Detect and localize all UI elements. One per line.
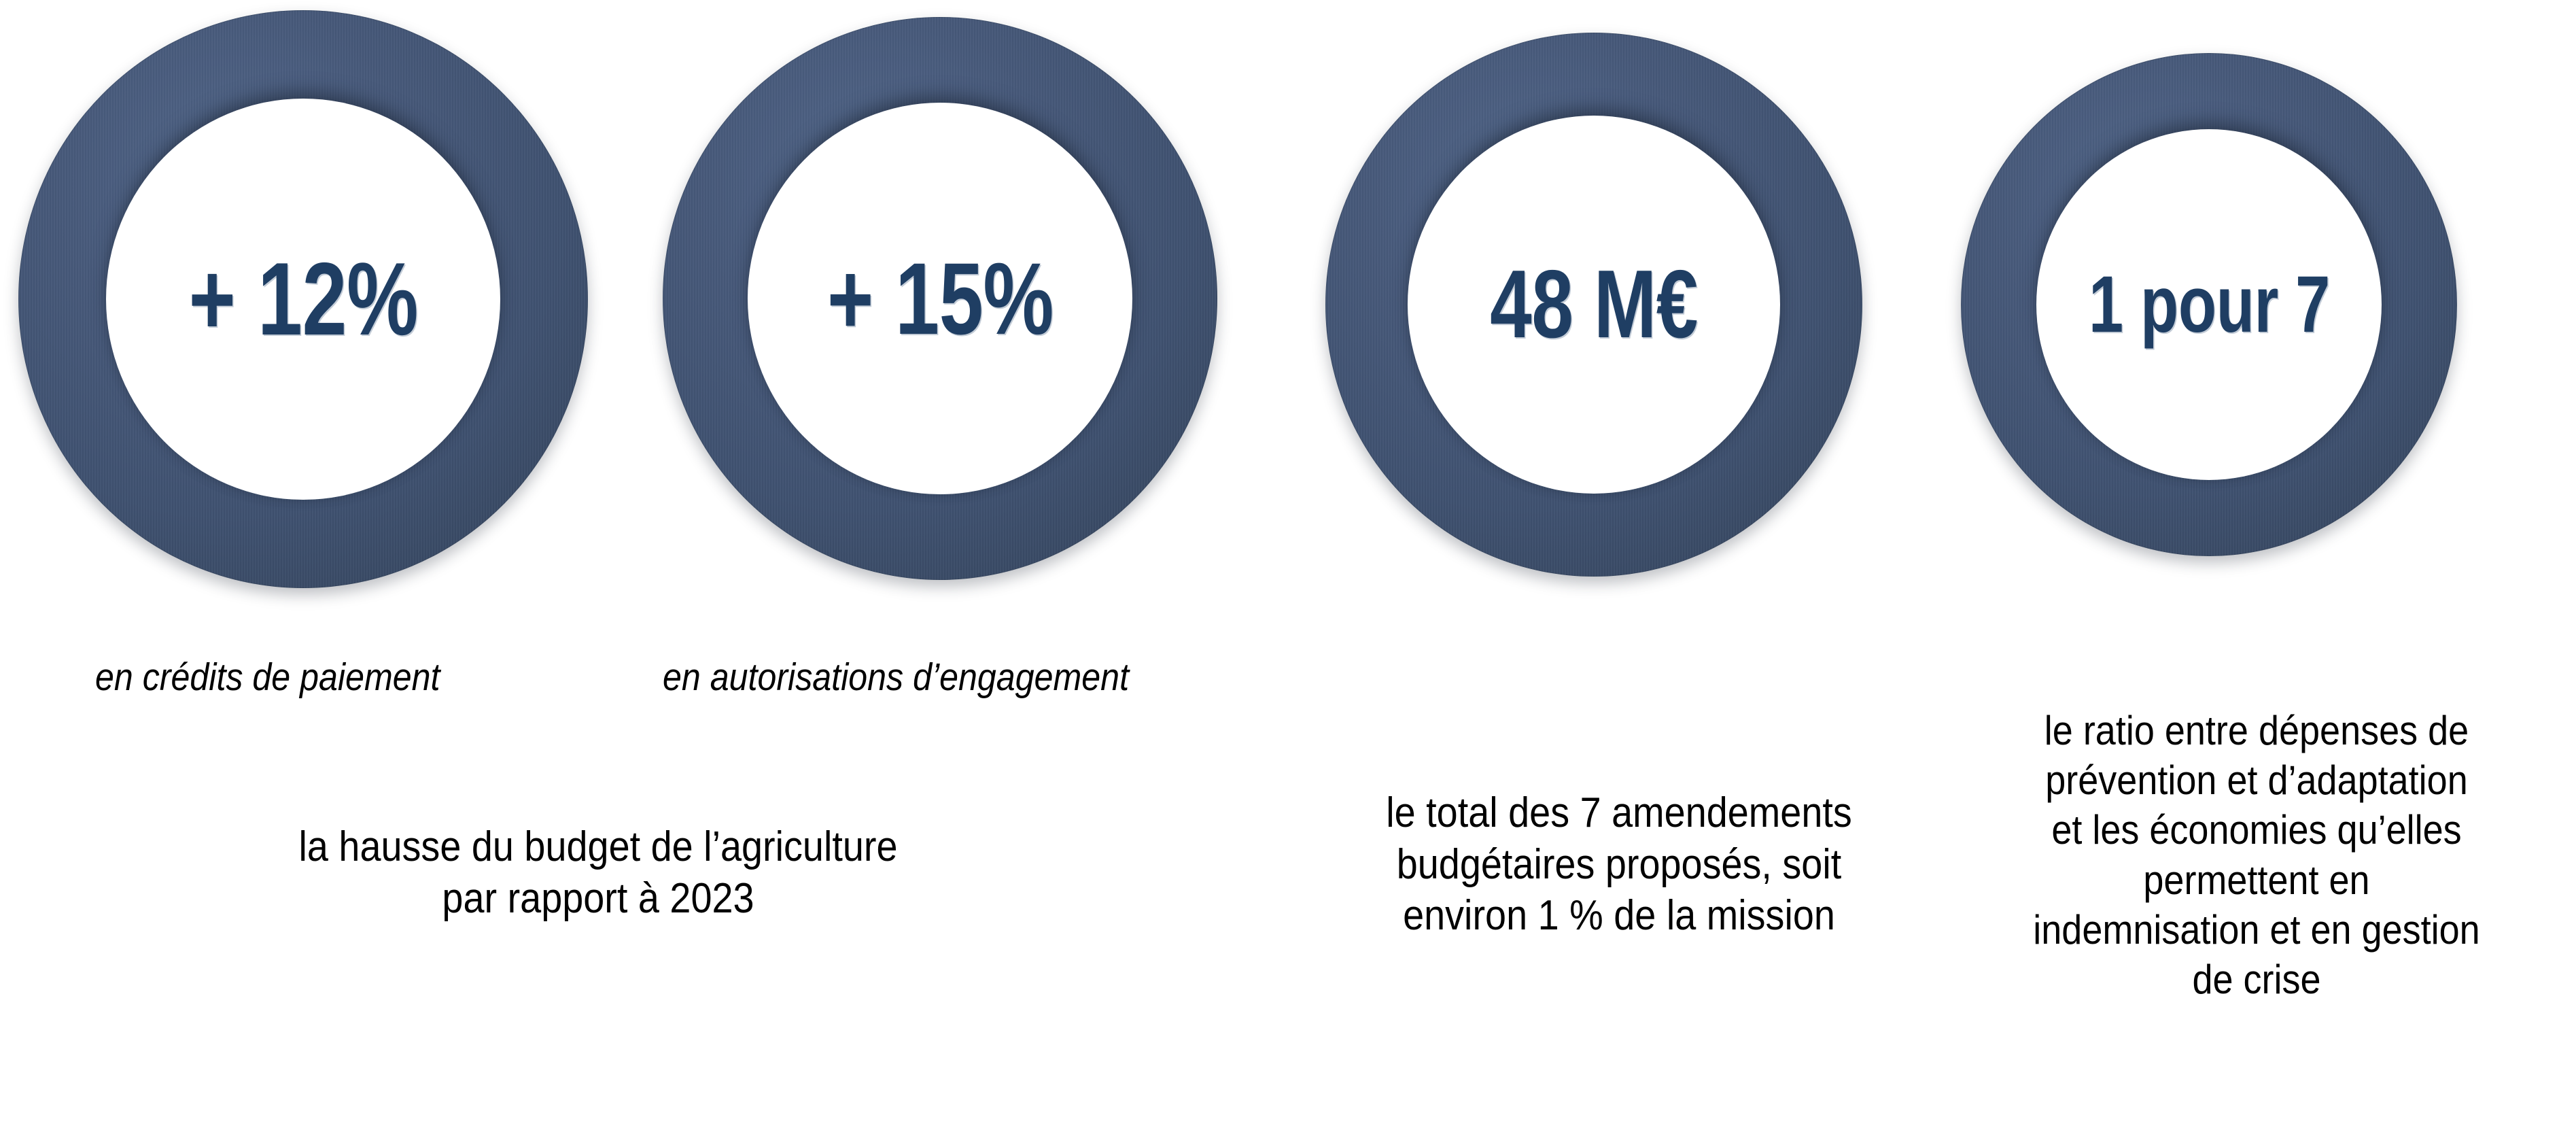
stat-caption-amendements: le total des 7 amendements budgétaires p… bbox=[1307, 787, 1931, 942]
stat-value: 48 M€ bbox=[1490, 256, 1698, 353]
donut-hole: + 15% bbox=[748, 103, 1132, 494]
stat-sub-label-autorisations-engagement: en autorisations d’engagement bbox=[663, 656, 1129, 700]
stat-caption-ratio: le ratio entre dépenses de prévention et… bbox=[1963, 706, 2550, 1004]
stat-value: 1 pour 7 bbox=[2089, 264, 2330, 345]
donut-hole: 1 pour 7 bbox=[2036, 129, 2382, 480]
stat-donut-amendements-budgetaires: 48 M€ bbox=[1325, 33, 1862, 577]
donut-hole: 48 M€ bbox=[1408, 116, 1780, 494]
stat-donut-autorisations-engagement: + 15% bbox=[663, 17, 1217, 580]
stat-donut-credits-de-paiement: + 12% bbox=[18, 10, 588, 588]
stat-caption-hausse-budget: la hausse du budget de l’agriculture par… bbox=[201, 821, 996, 924]
stat-value: + 12% bbox=[188, 247, 418, 351]
stat-value: + 15% bbox=[826, 247, 1053, 349]
stat-donut-ratio-prevention: 1 pour 7 bbox=[1961, 53, 2457, 556]
donut-hole: + 12% bbox=[106, 99, 500, 500]
stat-sub-label-credits-de-paiement: en crédits de paiement bbox=[95, 656, 440, 700]
